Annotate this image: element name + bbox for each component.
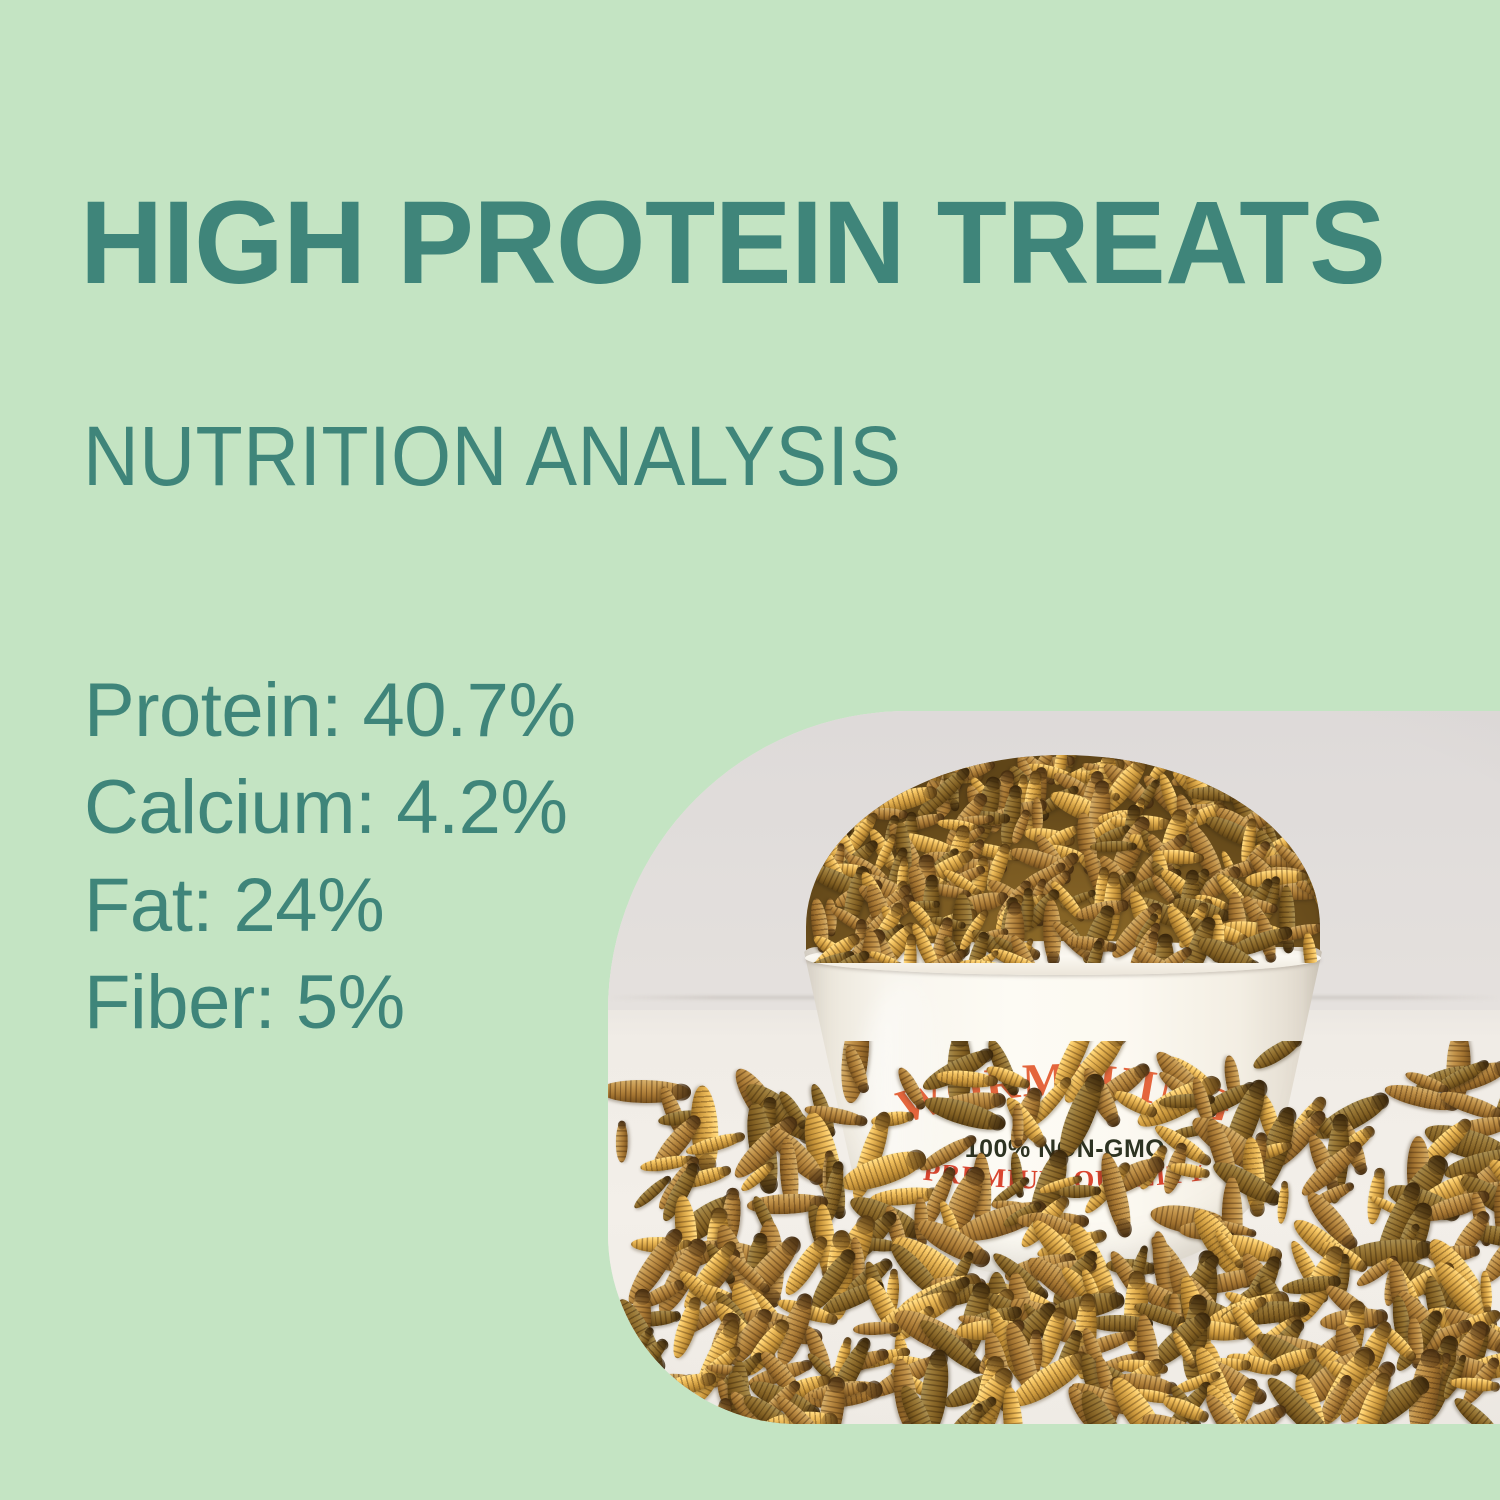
page-subtitle: NUTRITION ANALYSIS [83,412,901,500]
list-item: Fiber: 5% [84,954,576,1051]
list-item: Fat: 24% [84,857,576,954]
larvae-heap [806,755,1320,963]
nutrition-analysis-list: Protein: 40.7% Calcium: 4.2% Fat: 24% Fi… [84,662,576,1051]
larvae-scatter [608,1041,1500,1424]
larva [616,1122,628,1163]
list-item: Protein: 40.7% [84,662,576,759]
larva [1276,1182,1290,1225]
larva [1250,1041,1304,1074]
list-item: Calcium: 4.2% [84,759,576,856]
product-infographic-poster: HIGH PROTEIN TREATS NUTRITION ANALYSIS P… [0,0,1500,1500]
product-photo: WORMSKING 100% NON-GMO PREMIUM QUALITY [608,711,1500,1424]
larva [608,1079,690,1104]
page-title: HIGH PROTEIN TREATS [80,183,1445,303]
